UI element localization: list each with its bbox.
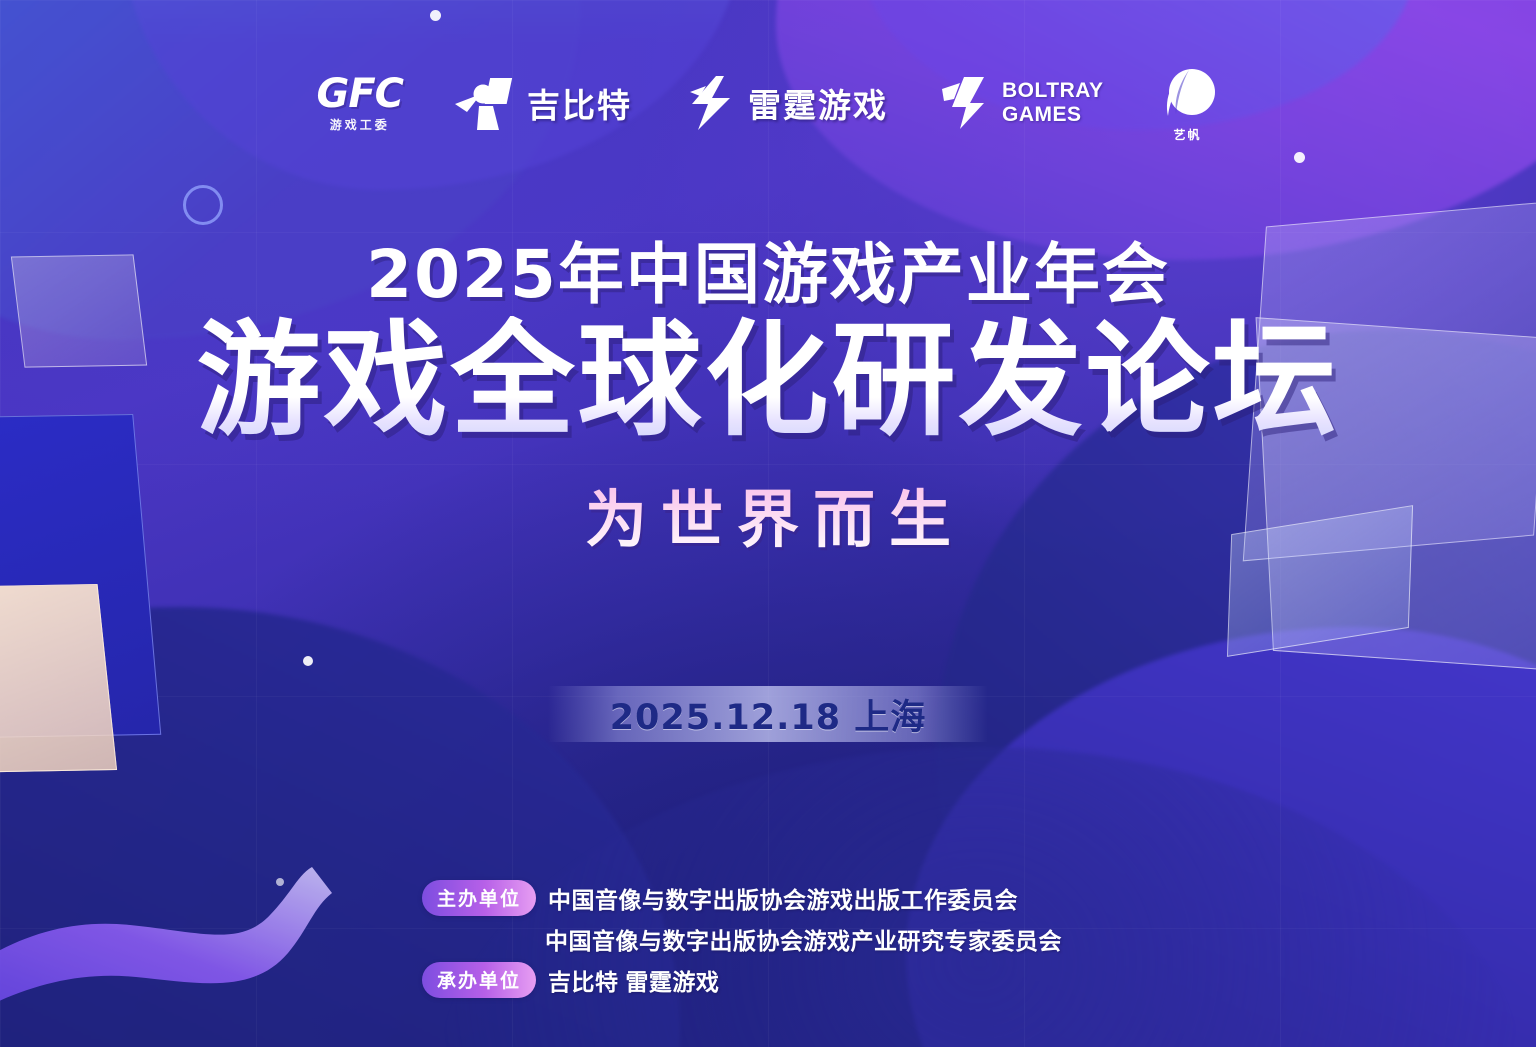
decorative-dot-4 bbox=[276, 878, 284, 886]
organizer-text: 吉比特 雷霆游戏 bbox=[548, 963, 719, 997]
sponsor-logo-gbits: 吉比特 bbox=[455, 74, 632, 132]
gfc-logo-subtitle: 游戏工委 bbox=[330, 116, 390, 133]
tagline: 为世界而生 bbox=[0, 469, 1536, 559]
title-block: 2025年中国游戏产业年会 游戏全球化研发论坛 为世界而生 bbox=[0, 242, 1536, 559]
decorative-dot-3 bbox=[303, 656, 313, 666]
event-title: 2025年中国游戏产业年会 bbox=[0, 242, 1536, 308]
boltray-line-1: BOLTRAY bbox=[1002, 79, 1104, 103]
sponsor-logo-yihe: 艺帆 bbox=[1156, 64, 1220, 143]
gfc-logo-icon: GFC bbox=[316, 74, 403, 114]
gbits-logo-label: 吉比特 bbox=[527, 79, 632, 127]
host-line-1: 中国音像与数字出版协会游戏出版工作委员会 bbox=[548, 881, 1018, 915]
footer-credits: 主办单位 中国音像与数字出版协会游戏出版工作委员会 中国音像与数字出版协会游戏产… bbox=[422, 880, 1062, 998]
decorative-dot-1 bbox=[430, 10, 441, 21]
leiting-logo-label: 雷霆游戏 bbox=[748, 79, 888, 127]
host-row-1: 主办单位 中国音像与数字出版协会游戏出版工作委员会 bbox=[422, 880, 1062, 916]
boltray-mark-icon bbox=[940, 75, 992, 131]
sponsor-logo-bar: GFC 游戏工委 吉比特 雷霆游戏 bbox=[0, 58, 1536, 148]
lightning-bolt-icon bbox=[684, 74, 738, 132]
date-location-text: 2025.12.18 上海 bbox=[610, 689, 927, 740]
sponsor-logo-gfc: GFC 游戏工委 bbox=[316, 74, 403, 133]
decorative-ring bbox=[183, 185, 223, 225]
glass-panel-left-cream bbox=[0, 584, 117, 773]
forum-title: 游戏全球化研发论坛 bbox=[0, 316, 1536, 447]
event-poster: GFC 游戏工委 吉比特 雷霆游戏 bbox=[0, 0, 1536, 1047]
sponsor-logo-boltray: BOLTRAY GAMES bbox=[940, 75, 1104, 131]
date-location-bar: 2025.12.18 上海 bbox=[548, 686, 988, 742]
organizer-row: 承办单位 吉比特 雷霆游戏 bbox=[422, 962, 1062, 998]
host-badge: 主办单位 bbox=[422, 880, 536, 916]
gbits-figure-icon bbox=[455, 74, 517, 132]
organizer-badge: 承办单位 bbox=[422, 962, 536, 998]
host-line-2: 中国音像与数字出版协会游戏产业研究专家委员会 bbox=[545, 922, 1062, 956]
boltray-logo-label: BOLTRAY GAMES bbox=[1002, 79, 1104, 126]
yihe-logo-label: 艺帆 bbox=[1174, 126, 1202, 143]
crescent-sail-icon bbox=[1156, 64, 1220, 126]
boltray-line-2: GAMES bbox=[1002, 103, 1104, 127]
decorative-dot-2 bbox=[1294, 152, 1305, 163]
host-row-2: 中国音像与数字出版协会游戏产业研究专家委员会 bbox=[422, 922, 1062, 956]
sponsor-logo-leiting: 雷霆游戏 bbox=[684, 74, 888, 132]
decorative-ribbon bbox=[0, 797, 460, 1027]
